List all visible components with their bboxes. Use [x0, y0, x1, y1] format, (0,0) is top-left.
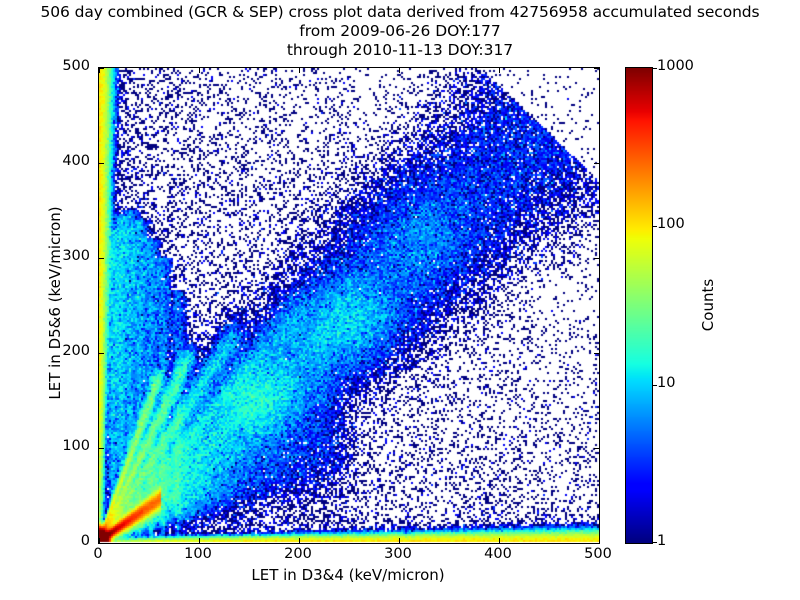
colorbar-tick-label: 1000 [657, 58, 694, 74]
x-tick-label: 200 [268, 546, 328, 562]
figure-canvas: 506 day combined (GCR & SEP) cross plot … [0, 0, 800, 600]
y-tick-right [594, 68, 599, 69]
x-tick-label: 400 [468, 546, 528, 562]
x-tick [499, 538, 500, 543]
y-tick-right [594, 543, 599, 544]
title-line-2: from 2009-06-26 DOY:177 [0, 22, 800, 41]
y-tick [99, 258, 104, 259]
y-tick-right [594, 163, 599, 164]
x-tick-top [299, 68, 300, 73]
y-tick-right [594, 448, 599, 449]
scatter-density-plot-area[interactable] [98, 67, 600, 544]
y-tick [99, 448, 104, 449]
y-tick [99, 163, 104, 164]
x-tick [299, 538, 300, 543]
title-line-1: 506 day combined (GCR & SEP) cross plot … [0, 3, 800, 22]
x-tick-top [499, 68, 500, 73]
plot-title: 506 day combined (GCR & SEP) cross plot … [0, 3, 800, 60]
y-tick-label: 500 [38, 58, 90, 74]
x-tick-label: 500 [568, 546, 628, 562]
y-tick [99, 543, 104, 544]
x-tick-top [199, 68, 200, 73]
y-tick-right [594, 353, 599, 354]
colorbar-label: Counts [699, 225, 717, 385]
y-axis-label: LET in D5&6 (keV/micron) [46, 153, 64, 453]
x-tick-top [599, 68, 600, 73]
colorbar-tick-label: 100 [657, 216, 685, 232]
colorbar[interactable] [625, 67, 653, 544]
y-tick [99, 353, 104, 354]
x-tick [199, 538, 200, 543]
x-tick-top [399, 68, 400, 73]
colorbar-tick-label: 1 [657, 533, 666, 549]
y-tick [99, 68, 104, 69]
colorbar-gradient [626, 68, 652, 543]
x-tick-label: 300 [368, 546, 428, 562]
colorbar-tick-label: 10 [657, 375, 675, 391]
x-tick [399, 538, 400, 543]
x-tick [599, 538, 600, 543]
y-tick-right [594, 258, 599, 259]
density-histogram-canvas [99, 68, 599, 543]
y-tick-label: 0 [38, 533, 90, 549]
x-tick-label: 100 [168, 546, 228, 562]
x-axis-label: LET in D3&4 (keV/micron) [98, 566, 598, 584]
